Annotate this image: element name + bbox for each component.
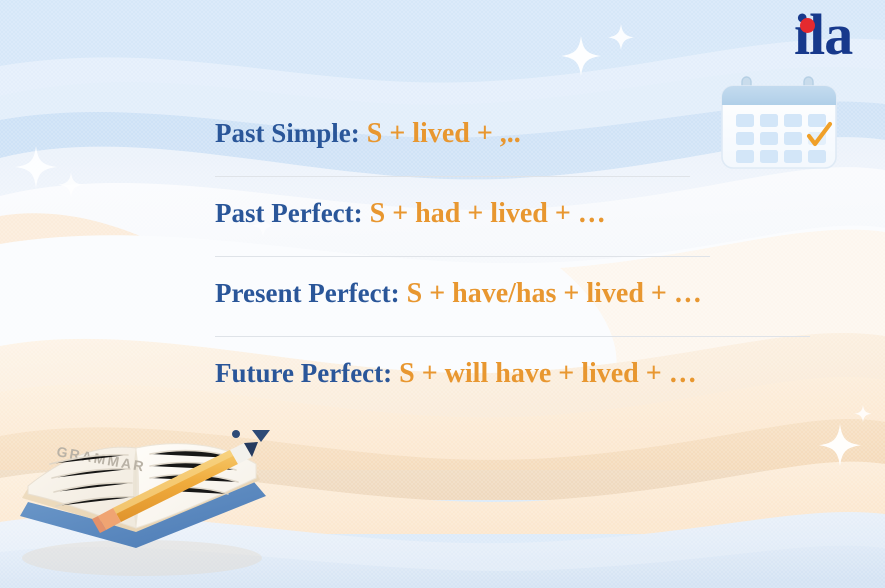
tense-formula: S + lived + ,.. — [367, 118, 521, 149]
tense-formula: S + will have + lived + … — [399, 358, 697, 389]
tense-label: Past Perfect: — [215, 198, 363, 228]
tense-formula: S + have/has + lived + … — [407, 278, 702, 309]
row-divider-2 — [215, 336, 810, 337]
tense-label: Future Perfect: — [215, 358, 392, 388]
list-item-past-simple: Past Simple:S + lived + ,.. — [215, 118, 521, 150]
list-item-past-perfect: Past Perfect:S + had + lived + … — [215, 198, 606, 230]
grammar-formula-list: Past Simple:S + lived + ,.. Past Perfect… — [0, 0, 885, 588]
list-item-present-perfect: Present Perfect:S + have/has + lived + … — [215, 278, 702, 310]
tense-label: Past Simple: — [215, 118, 360, 148]
tense-formula: S + had + lived + … — [370, 198, 606, 229]
row-divider-1 — [215, 256, 710, 257]
tense-label: Present Perfect: — [215, 278, 400, 308]
list-item-future-perfect: Future Perfect:S + will have + lived + … — [215, 358, 697, 390]
row-divider-0 — [215, 176, 690, 177]
infographic-canvas: ila — [0, 0, 885, 588]
